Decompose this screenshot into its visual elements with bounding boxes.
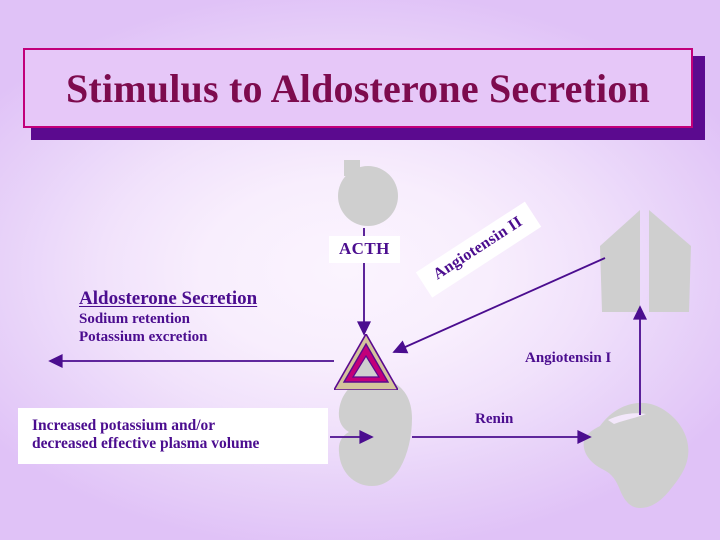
stimulus-text-box: Increased potassium and/or decreased eff… (18, 408, 328, 464)
page-title: Stimulus to Aldosterone Secretion (66, 65, 650, 112)
liver-shape (578, 398, 690, 510)
stimulus-line-1: Increased potassium and/or (32, 417, 316, 435)
title-box: Stimulus to Aldosterone Secretion (23, 48, 693, 128)
acth-label: ACTH (329, 236, 400, 263)
kidney-shape (338, 378, 412, 486)
angiotensin-i-label: Angiotensin I (525, 350, 611, 367)
aldosterone-effect-potassium: Potassium excretion (79, 329, 257, 346)
aldosterone-secretion-group: Aldosterone Secretion Sodium retention P… (79, 288, 257, 346)
aldosterone-heading: Aldosterone Secretion (79, 288, 257, 310)
renin-label: Renin (475, 411, 513, 428)
adrenal-gland-shape (334, 334, 398, 390)
aldosterone-effect-sodium: Sodium retention (79, 311, 257, 328)
lung-right-shape (649, 210, 691, 312)
pituitary-gland-shape (338, 166, 398, 226)
slide-canvas: Stimulus to Aldosterone Secretion (0, 0, 720, 540)
stimulus-line-2: decreased effective plasma volume (32, 435, 316, 453)
lung-left-shape (600, 210, 640, 312)
